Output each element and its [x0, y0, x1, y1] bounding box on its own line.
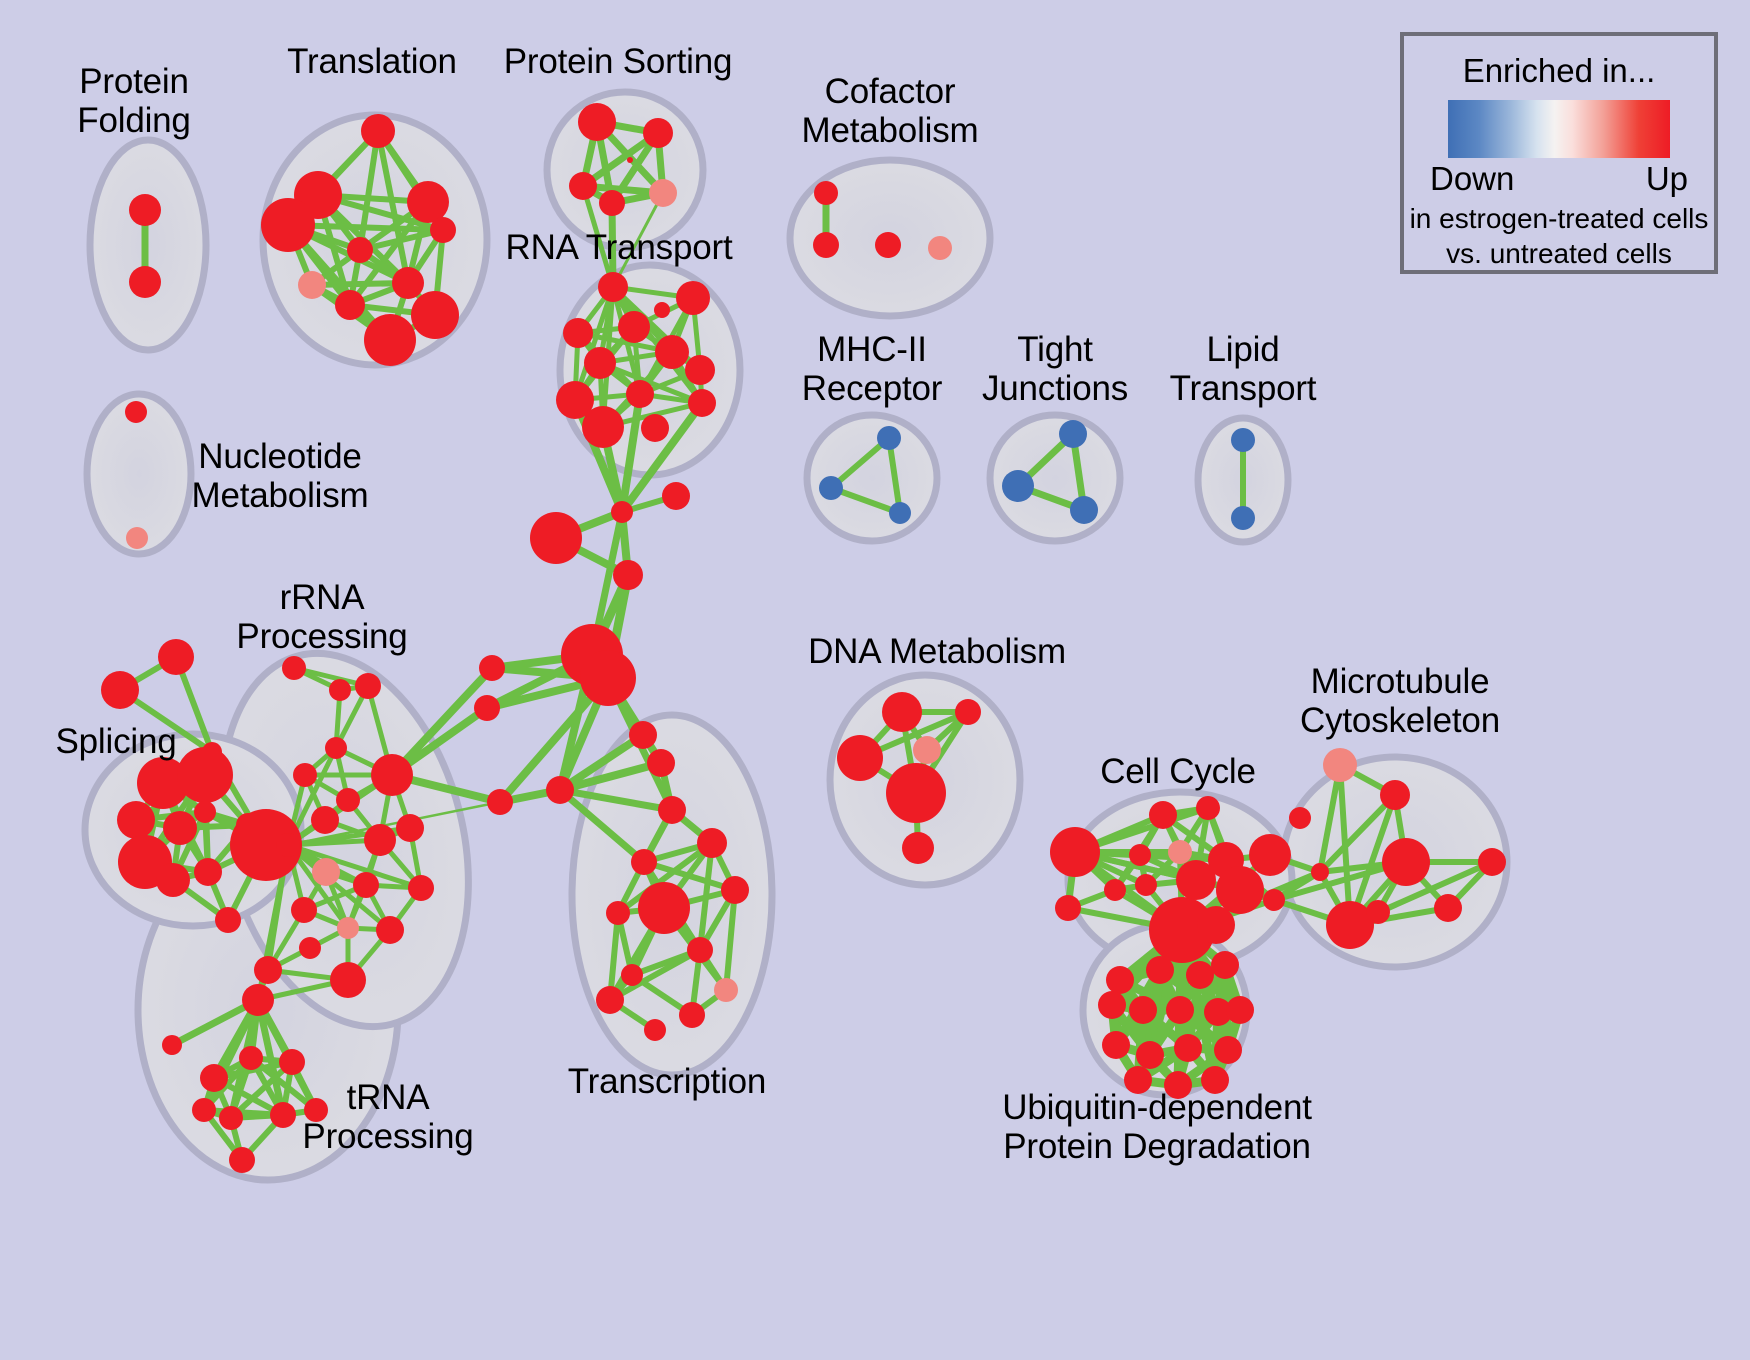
hull-protein-sorting: [547, 92, 703, 248]
enrichment-map-figure: Protein Folding Translation Protein Sort…: [0, 0, 1750, 1360]
legend-down-label: Down: [1430, 160, 1514, 198]
legend-panel: Enriched in... Down Up in estrogen-treat…: [1400, 32, 1718, 274]
legend-caption-line2: vs. untreated cells: [1404, 237, 1714, 270]
legend-colorbar: [1448, 100, 1670, 158]
legend-caption-line1: in estrogen-treated cells: [1404, 202, 1714, 235]
legend-title: Enriched in...: [1404, 52, 1714, 90]
legend-up-label: Up: [1646, 160, 1688, 198]
legend-endpoints: Down Up: [1430, 160, 1688, 200]
